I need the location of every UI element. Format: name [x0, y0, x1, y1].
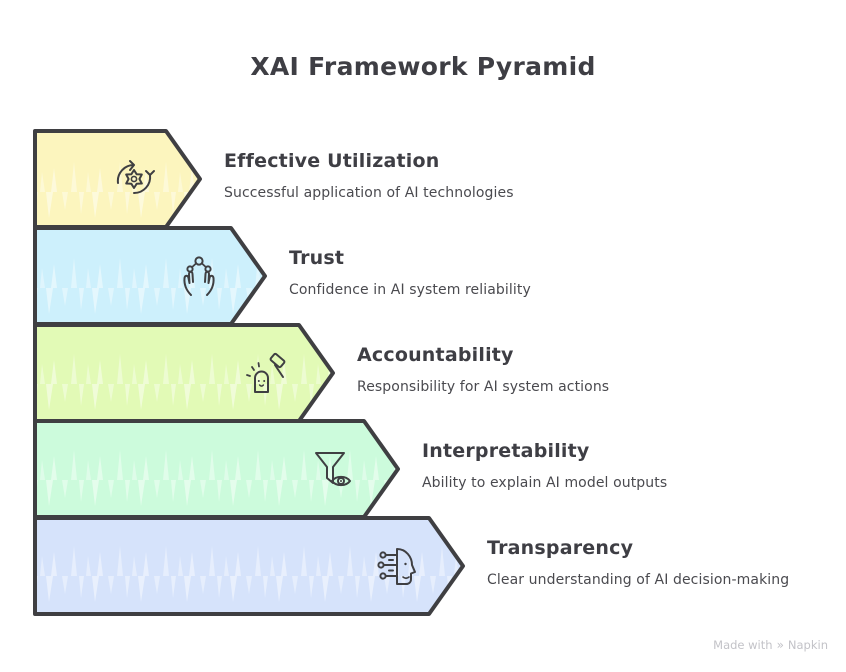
pyramid-band-3[interactable]	[35, 325, 333, 421]
watermark-brand: Napkin	[788, 638, 828, 652]
pyramid-band-label-1: Effective UtilizationSuccessful applicat…	[224, 150, 514, 201]
band-title-5: Transparency	[487, 537, 789, 559]
pyramid-band-5[interactable]	[35, 518, 463, 614]
band-title-2: Trust	[289, 247, 531, 269]
pyramid-band-label-5: TransparencyClear understanding of AI de…	[487, 537, 789, 588]
band-description-1: Successful application of AI technologie…	[224, 185, 514, 201]
band-description-2: Confidence in AI system reliability	[289, 282, 531, 298]
watermark-prefix: Made with	[713, 638, 772, 652]
band-description-5: Clear understanding of AI decision-makin…	[487, 572, 789, 588]
pyramid-band-4[interactable]	[35, 421, 398, 517]
watermark: Made with » Napkin	[713, 638, 828, 652]
pyramid-band-2[interactable]	[35, 228, 265, 324]
pyramid-band-label-3: AccountabilityResponsibility for AI syst…	[357, 344, 609, 395]
band-description-3: Responsibility for AI system actions	[357, 379, 609, 395]
band-title-3: Accountability	[357, 344, 609, 366]
band-title-4: Interpretability	[422, 440, 667, 462]
band-description-4: Ability to explain AI model outputs	[422, 475, 667, 491]
pyramid-band-label-4: InterpretabilityAbility to explain AI mo…	[422, 440, 667, 491]
napkin-logo-icon: »	[777, 639, 784, 651]
band-title-1: Effective Utilization	[224, 150, 514, 172]
pyramid-band-label-2: TrustConfidence in AI system reliability	[289, 247, 531, 298]
